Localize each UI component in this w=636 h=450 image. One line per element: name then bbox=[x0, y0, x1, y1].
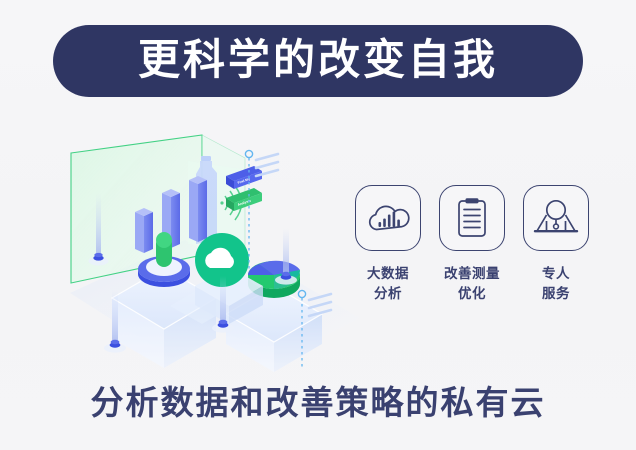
feature-item-big-data[interactable]: 大数据 分析 bbox=[352, 185, 424, 303]
feature-label-line2: 优化 bbox=[458, 286, 486, 301]
feature-label-line1: 大数据 bbox=[367, 266, 409, 281]
feature-label-line1: 改善测量 bbox=[444, 266, 500, 281]
feature-icon-box bbox=[439, 185, 505, 251]
feature-label: 改善测量 优化 bbox=[444, 264, 500, 303]
feature-icon-box bbox=[523, 185, 589, 251]
feature-label: 大数据 分析 bbox=[367, 264, 409, 303]
feature-item-measure-optimize[interactable]: 改善测量 优化 bbox=[436, 185, 508, 303]
feature-list: 大数据 分析 改善测量 优化 bbox=[352, 185, 594, 303]
service-person-icon bbox=[532, 197, 580, 239]
banner-title: 更科学的改变自我 bbox=[138, 39, 498, 83]
connector-node-top bbox=[245, 150, 252, 157]
feature-label-line2: 服务 bbox=[542, 286, 570, 301]
clipboard-lines-icon bbox=[452, 196, 492, 240]
feature-item-dedicated-service[interactable]: 专人 服务 bbox=[520, 185, 592, 303]
cloud-bar-chart-icon bbox=[365, 198, 411, 238]
feature-icon-box bbox=[355, 185, 421, 251]
poster-canvas: 更科学的改变自我 bbox=[0, 0, 636, 450]
feature-label-line2: 分析 bbox=[374, 286, 402, 301]
illustration: Find My Analysis bbox=[40, 118, 360, 373]
feature-label: 专人 服务 bbox=[542, 264, 570, 303]
page-tagline: 分析数据和改善策略的私有云 bbox=[0, 385, 636, 421]
feature-label-line1: 专人 bbox=[542, 266, 570, 281]
header-banner: 更科学的改变自我 bbox=[53, 25, 583, 97]
